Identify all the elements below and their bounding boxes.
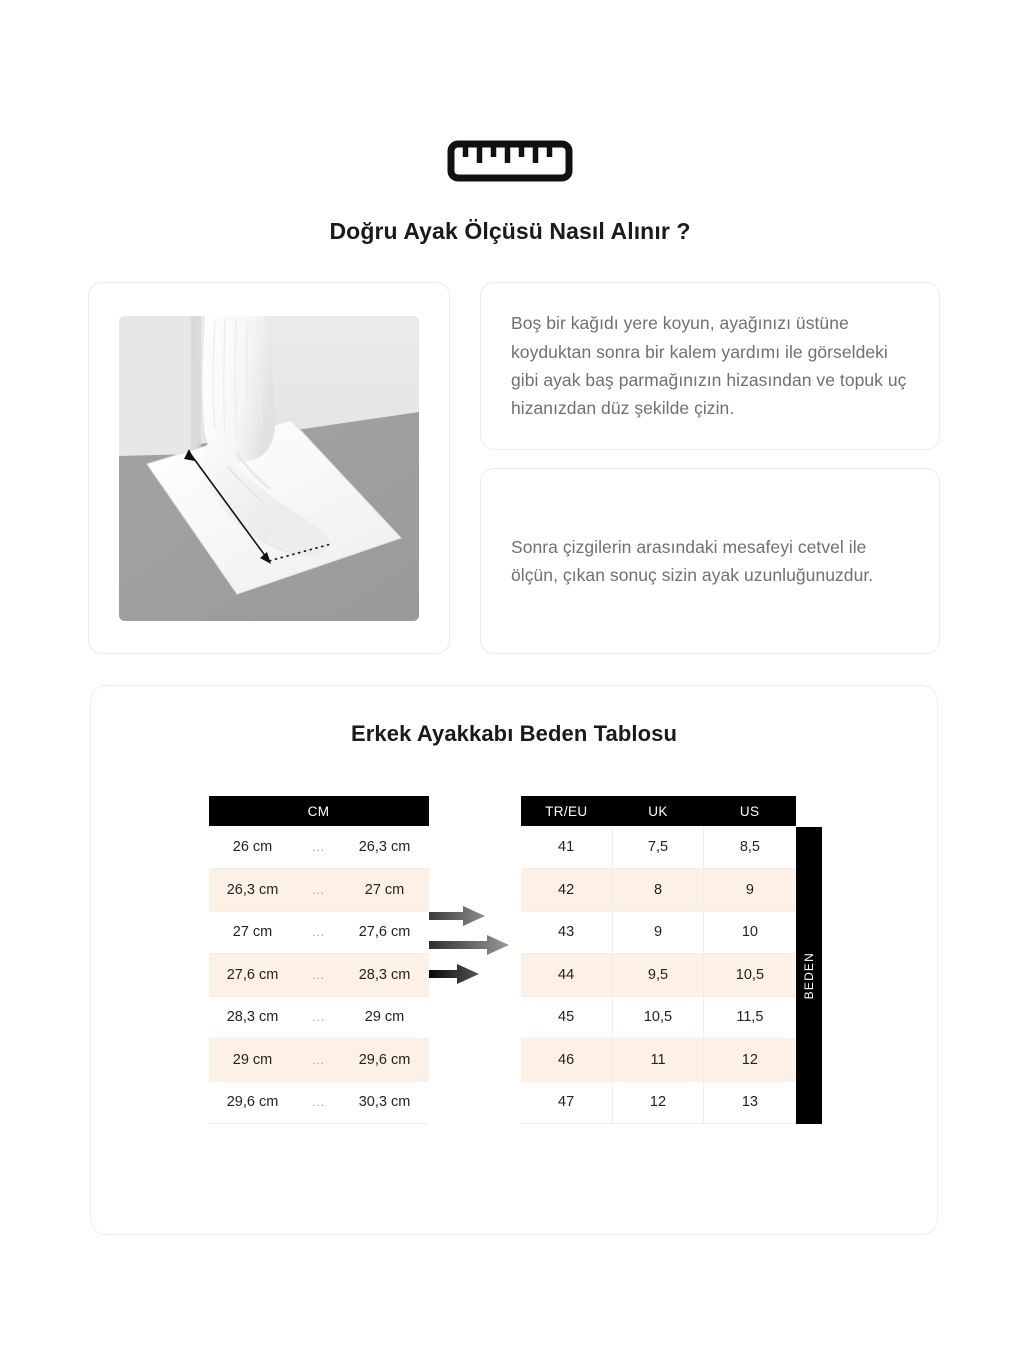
instruction-text-1: Boş bir kağıdı yere koyun, ayağınızı üst… (511, 309, 909, 422)
size-treu: 43 (521, 911, 613, 954)
size-uk: 12 (612, 1081, 704, 1124)
page-title: Doğru Ayak Ölçüsü Nasıl Alınır ? (0, 218, 1020, 245)
size-header-uk: UK (612, 796, 704, 826)
table-row: 46 11 12 (521, 1039, 796, 1082)
size-table-card: Erkek Ayakkabı Beden Tablosu CM 26 cm ..… (90, 685, 938, 1235)
size-uk: 7,5 (612, 826, 704, 869)
table-row: 26 cm ... 26,3 cm (209, 826, 429, 869)
size-us: 9 (704, 869, 796, 912)
size-treu: 44 (521, 954, 613, 997)
cm-from: 29,6 cm (209, 1081, 297, 1124)
beden-label-text: BEDEN (802, 952, 816, 999)
instruction-cards: Boş bir kağıdı yere koyun, ayağınızı üst… (480, 282, 940, 654)
size-treu: 45 (521, 996, 613, 1039)
size-treu: 47 (521, 1081, 613, 1124)
size-treu: 41 (521, 826, 613, 869)
cm-table: CM 26 cm ... 26,3 cm 26,3 cm ... 27 cm (209, 796, 429, 1124)
instruction-card-1: Boş bir kağıdı yere koyun, ayağınızı üst… (480, 282, 940, 450)
cm-separator: ... (297, 826, 341, 869)
size-us: 13 (704, 1081, 796, 1124)
arrow-right-icon-3 (429, 964, 479, 984)
conversion-arrows (429, 796, 521, 984)
cm-separator: ... (297, 869, 341, 912)
size-guide-page: Doğru Ayak Ölçüsü Nasıl Alınır ? (0, 0, 1020, 1360)
size-uk: 10,5 (612, 996, 704, 1039)
table-row: 29 cm ... 29,6 cm (209, 1039, 429, 1082)
beden-side-label: BEDEN (796, 827, 822, 1124)
cm-from: 28,3 cm (209, 996, 297, 1039)
cm-to: 27,6 cm (341, 911, 429, 954)
cm-separator: ... (297, 911, 341, 954)
ruler-icon-container (0, 140, 1020, 182)
size-us: 12 (704, 1039, 796, 1082)
size-us: 10 (704, 911, 796, 954)
size-header-treu: TR/EU (521, 796, 613, 826)
shoe-size-table: TR/EU UK US 41 7,5 8,5 42 8 (521, 796, 796, 1124)
instruction-card-2: Sonra çizgilerin arasındaki mesafeyi cet… (480, 468, 940, 654)
size-tables-row: CM 26 cm ... 26,3 cm 26,3 cm ... 27 cm (91, 796, 939, 1124)
cm-from: 27,6 cm (209, 954, 297, 997)
table-row: 29,6 cm ... 30,3 cm (209, 1081, 429, 1124)
size-uk: 9 (612, 911, 704, 954)
size-uk: 9,5 (612, 954, 704, 997)
size-us: 11,5 (704, 996, 796, 1039)
arrow-right-icon-1 (429, 906, 485, 926)
instruction-text-2: Sonra çizgilerin arasındaki mesafeyi cet… (511, 533, 909, 590)
size-us: 8,5 (704, 826, 796, 869)
table-row: 26,3 cm ... 27 cm (209, 869, 429, 912)
photo-card (88, 282, 450, 654)
size-table-wrap: TR/EU UK US 41 7,5 8,5 42 8 (521, 796, 822, 1124)
cm-to: 29,6 cm (341, 1039, 429, 1082)
size-table-title: Erkek Ayakkabı Beden Tablosu (91, 721, 937, 747)
table-row: 27 cm ... 27,6 cm (209, 911, 429, 954)
cm-header-cell: CM (209, 796, 429, 826)
cm-separator: ... (297, 1039, 341, 1082)
cm-to: 30,3 cm (341, 1081, 429, 1124)
table-row: 44 9,5 10,5 (521, 954, 796, 997)
cm-table-header-row: CM (209, 796, 429, 826)
size-treu: 46 (521, 1039, 613, 1082)
cm-separator: ... (297, 954, 341, 997)
table-row: 41 7,5 8,5 (521, 826, 796, 869)
table-row: 28,3 cm ... 29 cm (209, 996, 429, 1039)
cm-from: 26 cm (209, 826, 297, 869)
table-row: 42 8 9 (521, 869, 796, 912)
arrow-right-icon-2 (429, 935, 509, 955)
cm-separator: ... (297, 1081, 341, 1124)
ruler-icon (447, 140, 573, 182)
cm-to: 28,3 cm (341, 954, 429, 997)
table-row: 45 10,5 11,5 (521, 996, 796, 1039)
size-us: 10,5 (704, 954, 796, 997)
size-uk: 8 (612, 869, 704, 912)
instructions-section: Boş bir kağıdı yere koyun, ayağınızı üst… (88, 282, 940, 654)
foot-measurement-photo (119, 316, 419, 621)
cm-separator: ... (297, 996, 341, 1039)
table-row: 43 9 10 (521, 911, 796, 954)
size-treu: 42 (521, 869, 613, 912)
cm-from: 27 cm (209, 911, 297, 954)
cm-to: 29 cm (341, 996, 429, 1039)
size-header-us: US (704, 796, 796, 826)
cm-from: 29 cm (209, 1039, 297, 1082)
cm-to: 27 cm (341, 869, 429, 912)
table-row: 27,6 cm ... 28,3 cm (209, 954, 429, 997)
table-row: 47 12 13 (521, 1081, 796, 1124)
size-table-header-row: TR/EU UK US (521, 796, 796, 826)
cm-to: 26,3 cm (341, 826, 429, 869)
cm-from: 26,3 cm (209, 869, 297, 912)
size-uk: 11 (612, 1039, 704, 1082)
